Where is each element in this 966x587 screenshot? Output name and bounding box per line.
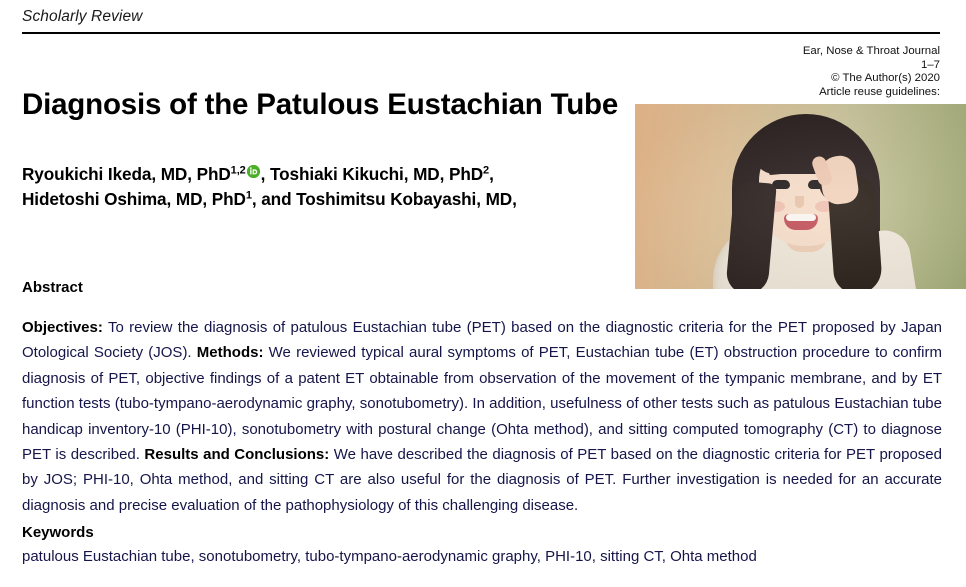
journal-copyright: © The Author(s) 2020: [640, 72, 940, 86]
author-name-1: Ryoukichi Ikeda, MD, PhD: [22, 164, 231, 184]
header-divider: [22, 32, 940, 34]
photo-vignette: [635, 104, 966, 289]
author-name-4: , and Toshimitsu Kobayashi, MD,: [252, 189, 517, 209]
abstract-body: Objectives: To review the diagnosis of p…: [22, 315, 942, 518]
keywords-heading: Keywords: [22, 524, 94, 541]
orcid-id-icon[interactable]: [247, 165, 260, 178]
running-head: Scholarly Review: [22, 8, 142, 26]
author-line-1-comma: ,: [489, 164, 494, 184]
journal-name: Ear, Nose & Throat Journal: [640, 45, 940, 59]
author-name-3: Hidetoshi Oshima, MD, PhD: [22, 189, 246, 209]
journal-pages: 1–7: [640, 59, 940, 73]
keywords-list: patulous Eustachian tube, sonotubometry,…: [22, 546, 942, 568]
woman-touching-ear-photo: [635, 104, 966, 289]
abstract-label-methods: Methods:: [197, 344, 264, 361]
abstract-heading: Abstract: [22, 279, 83, 296]
page-title: Diagnosis of the Patulous Eustachian Tub…: [22, 88, 722, 122]
author-affiliation-marker-1: 1,2: [231, 164, 246, 176]
author-list: Ryoukichi Ikeda, MD, PhD1,2, Toshiaki Ki…: [22, 162, 682, 212]
abstract-label-results: Results and Conclusions:: [144, 446, 329, 463]
author-name-2: , Toshiaki Kikuchi, MD, PhD: [261, 164, 483, 184]
abstract-label-objectives: Objectives:: [22, 319, 103, 336]
article-page: Scholarly Review Ear, Nose & Throat Jour…: [0, 0, 966, 587]
